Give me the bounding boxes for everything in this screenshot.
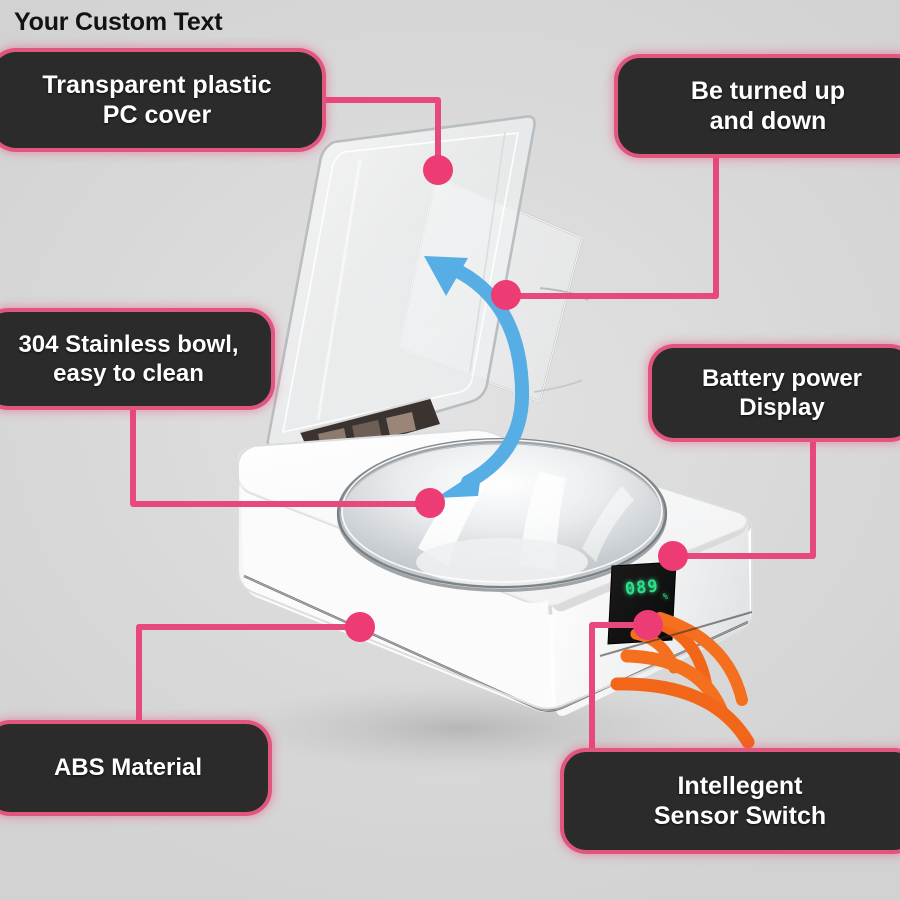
callout-abs-line1: ABS Material — [54, 753, 202, 782]
callout-abs-material[interactable]: ABS Material — [0, 724, 268, 812]
callout-pc-cover-line2: PC cover — [42, 100, 271, 131]
callout-pc-cover-line1: Transparent plastic — [42, 70, 271, 101]
callout-sensor-line2: Sensor Switch — [654, 801, 826, 832]
callout-stainless-bowl[interactable]: 304 Stainless bowl, easy to clean — [0, 312, 271, 406]
callout-battery-display[interactable]: Battery power Display — [652, 348, 900, 438]
callout-bowl-line2: easy to clean — [18, 359, 238, 388]
callout-battery-line1: Battery power — [702, 364, 862, 393]
callout-turn-line2: and down — [691, 106, 845, 137]
callout-pc-cover[interactable]: Transparent plastic PC cover — [0, 52, 322, 148]
callout-sensor-switch[interactable]: Intellegent Sensor Switch — [564, 752, 900, 850]
led-display-value: 089 — [624, 576, 660, 599]
infographic-canvas: 089 % Your Custom Text — [0, 0, 900, 900]
led-display-unit: % — [663, 592, 669, 601]
callout-turn-up-down[interactable]: Be turned up and down — [618, 58, 900, 154]
callout-battery-line2: Display — [702, 393, 862, 422]
callout-sensor-line1: Intellegent — [654, 771, 826, 802]
callout-turn-line1: Be turned up — [691, 76, 845, 107]
callout-bowl-line1: 304 Stainless bowl, — [18, 330, 238, 359]
page-title: Your Custom Text — [14, 8, 222, 37]
